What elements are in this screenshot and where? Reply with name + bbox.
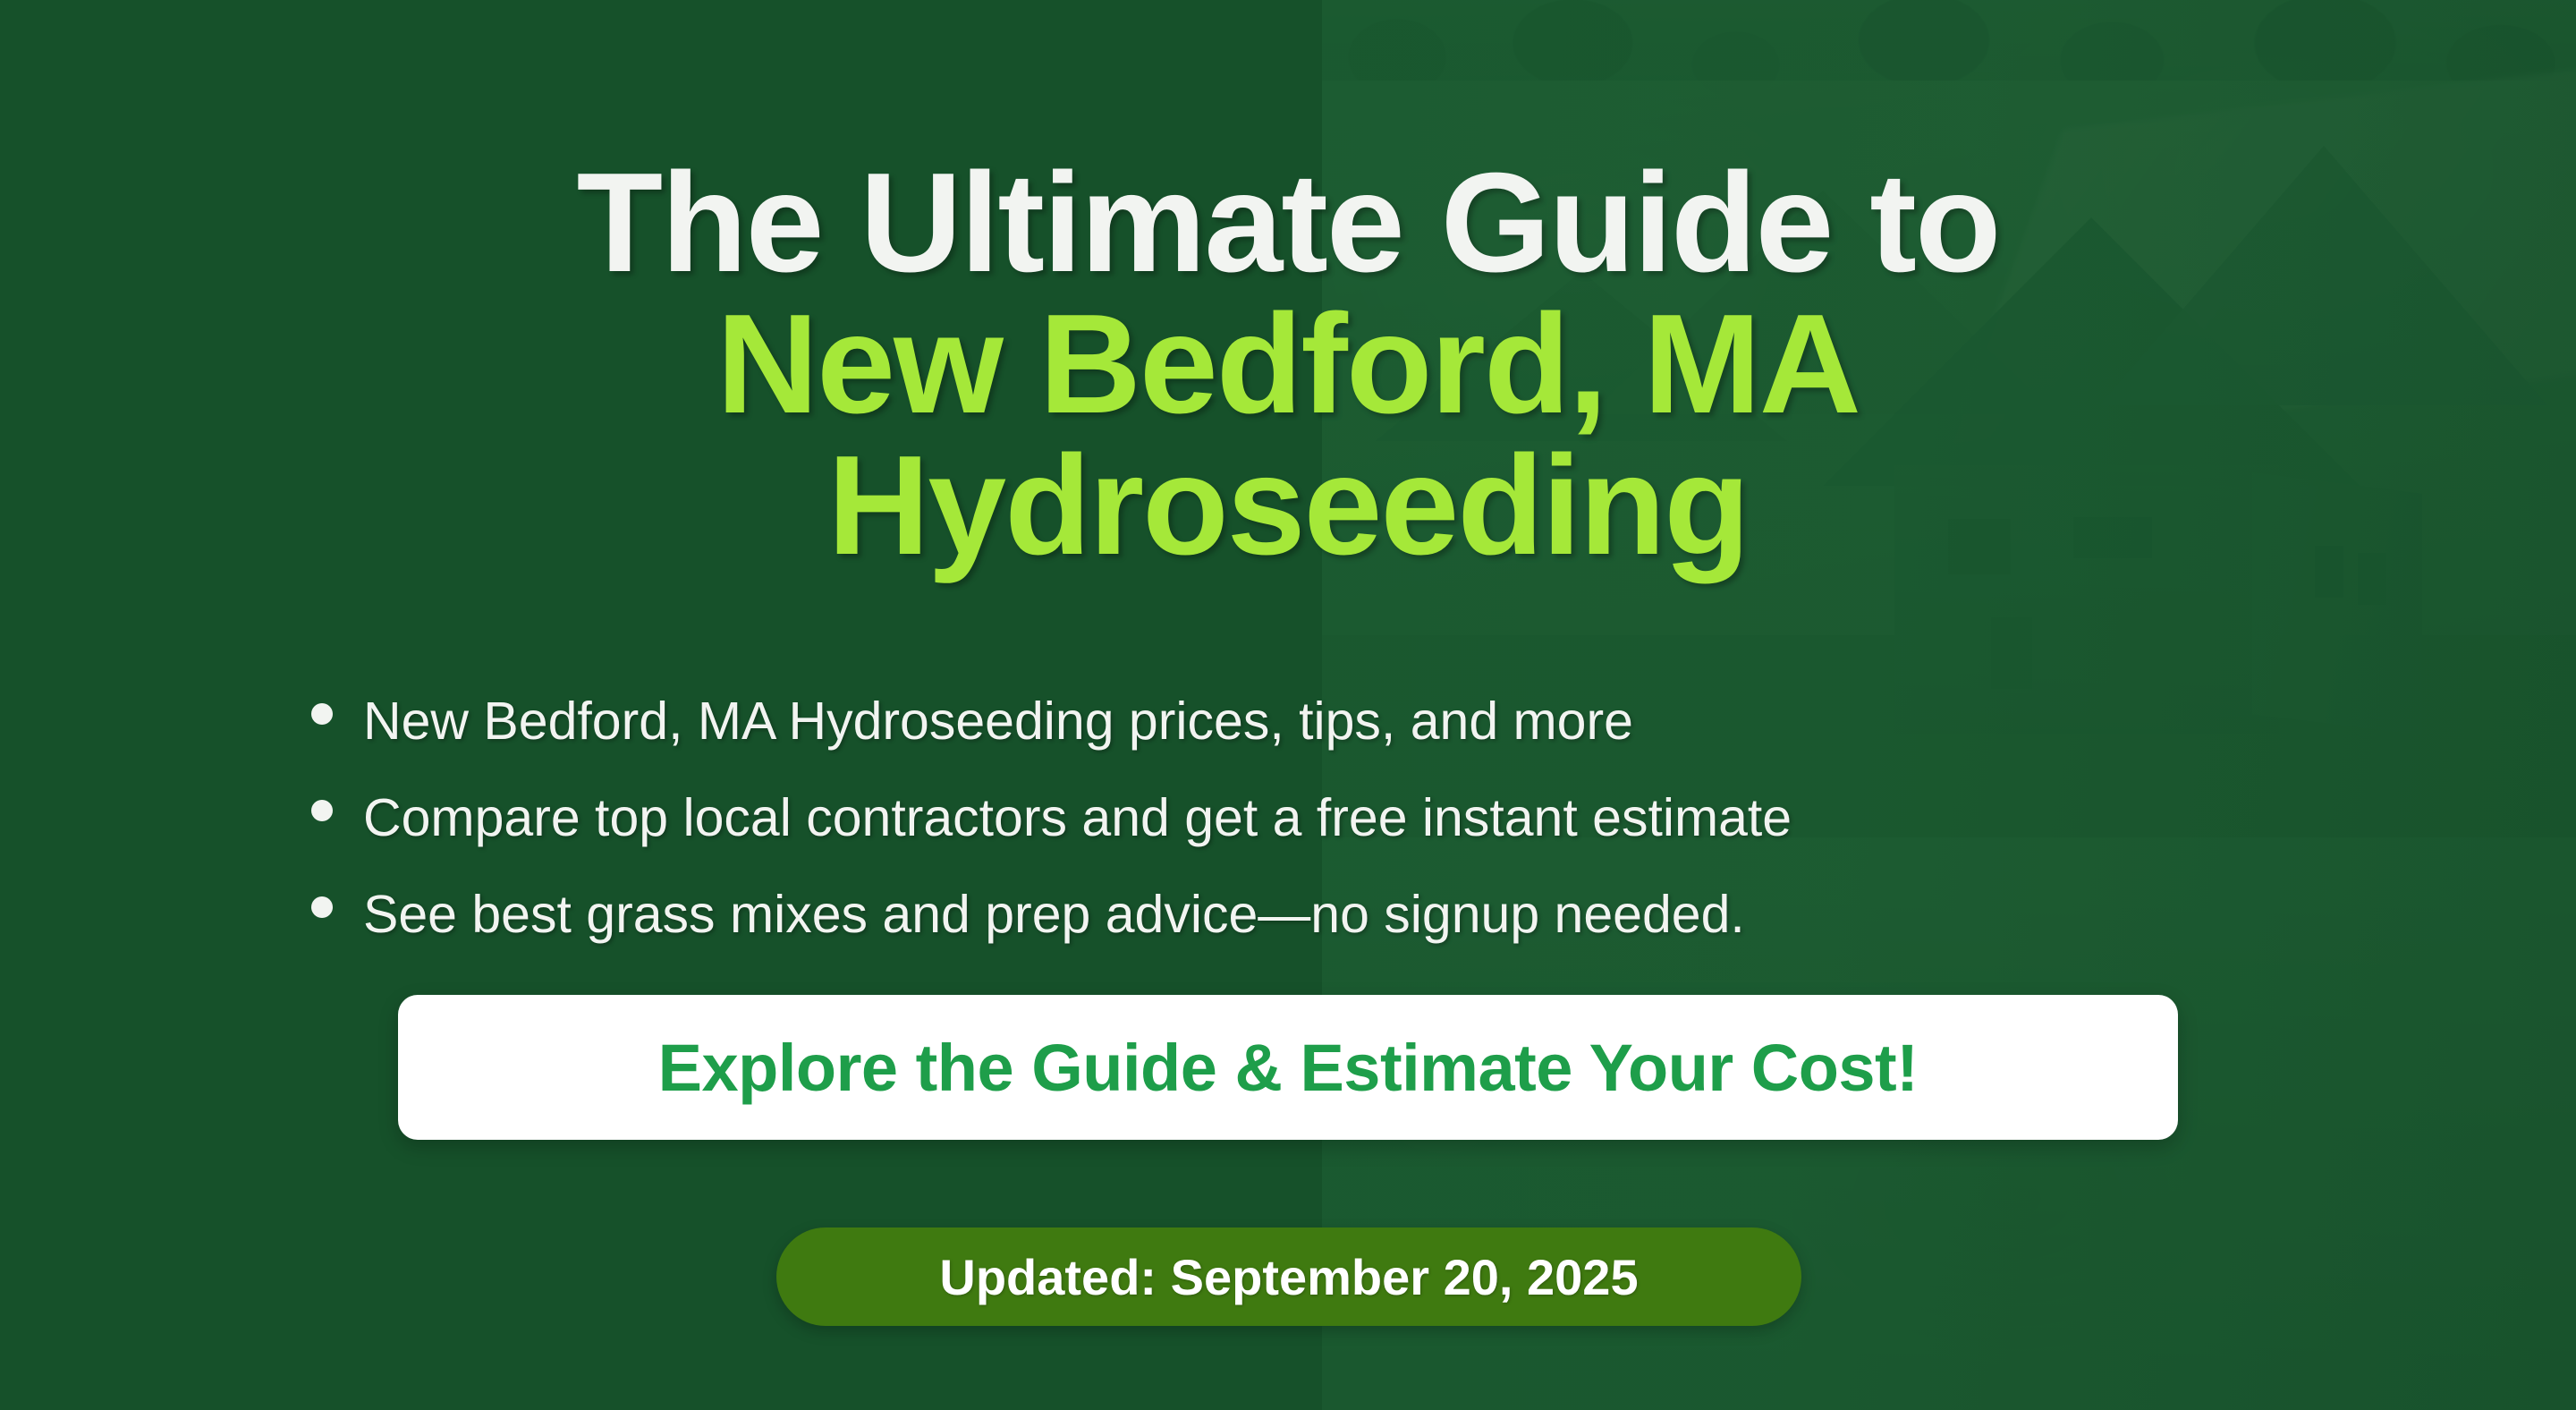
list-item-label: See best grass mixes and prep advice—no … [363,866,1745,963]
banner-content: The Ultimate Guide to New Bedford, MA Hy… [0,0,2576,1410]
headline-line-2: New Bedford, MA [0,293,2576,435]
last-updated-label: Updated: September 20, 2025 [939,1248,1638,1306]
cta-button-label: Explore the Guide & Estimate Your Cost! [658,1030,1919,1106]
last-updated-badge: Updated: September 20, 2025 [776,1227,1801,1326]
bullet-dot-icon [311,800,333,821]
bullet-dot-icon [311,896,333,918]
list-item-label: New Bedford, MA Hydroseeding prices, tip… [363,673,1633,769]
list-item: See best grass mixes and prep advice—no … [311,866,1792,963]
bullet-dot-icon [311,703,333,725]
list-item: New Bedford, MA Hydroseeding prices, tip… [311,673,1792,769]
hero-banner: The Ultimate Guide to New Bedford, MA Hy… [0,0,2576,1410]
explore-guide-cta-button[interactable]: Explore the Guide & Estimate Your Cost! [398,995,2178,1140]
page-title: The Ultimate Guide to New Bedford, MA Hy… [0,152,2576,576]
headline-line-3: Hydroseeding [0,435,2576,576]
feature-bullet-list: New Bedford, MA Hydroseeding prices, tip… [311,673,1792,963]
list-item: Compare top local contractors and get a … [311,769,1792,866]
headline-line-1: The Ultimate Guide to [0,152,2576,293]
list-item-label: Compare top local contractors and get a … [363,769,1792,866]
